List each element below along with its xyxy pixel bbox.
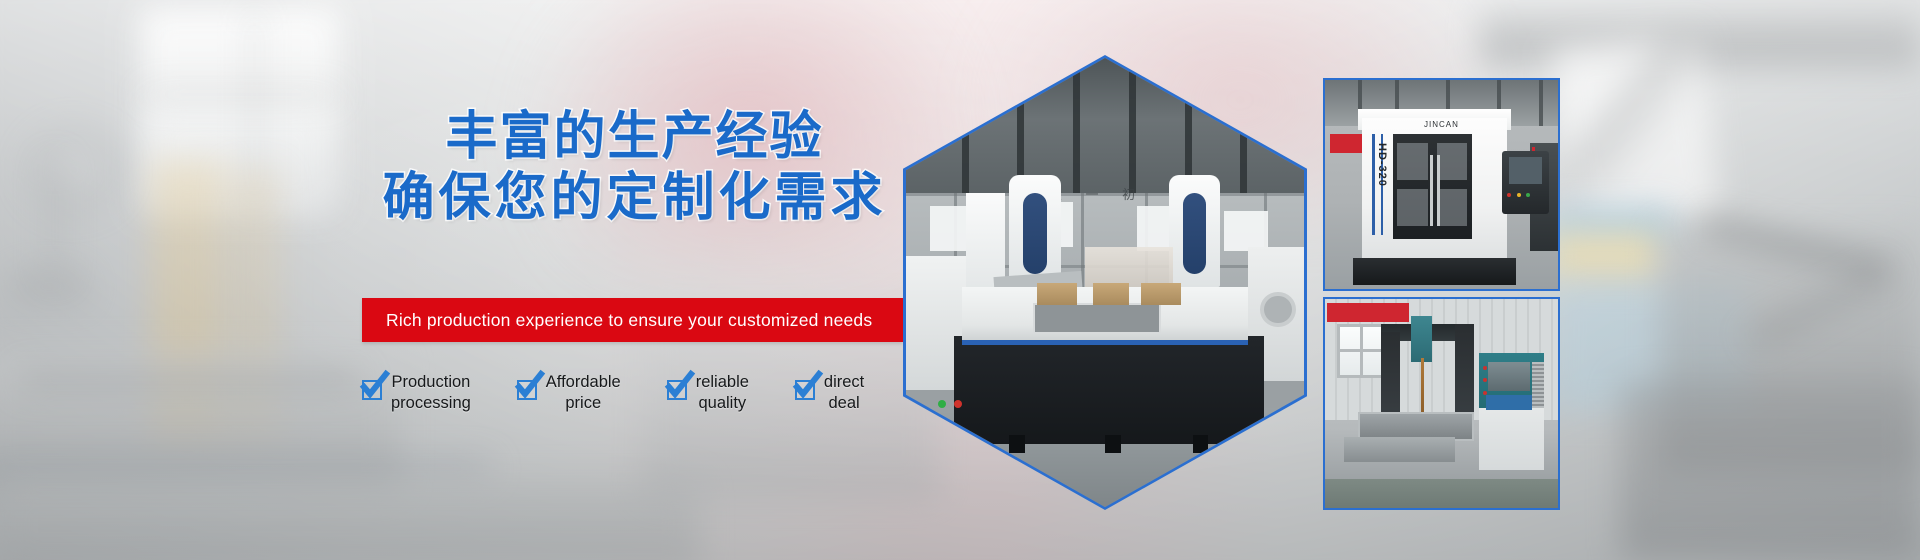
feature-item: reliable quality	[667, 372, 749, 413]
feature-item: direct deal	[795, 372, 864, 413]
tagline-band: Rich production experience to ensure you…	[362, 298, 903, 342]
feature-list: Production processing Affordable price r…	[362, 372, 864, 413]
headline-line-1: 丰富的生产经验	[445, 109, 823, 166]
feature-label: reliable quality	[696, 372, 749, 413]
machine-model-label: HD-320	[1365, 143, 1388, 206]
machine-brand-mark: JINCAN	[1418, 120, 1465, 129]
checkbox-checked-icon	[795, 380, 815, 400]
hero-banner: 丰富的生产经验 确保您的定制化需求 Rich production experi…	[0, 0, 1920, 560]
edm-machine-photo	[1323, 297, 1560, 510]
feature-item: Affordable price	[517, 372, 621, 413]
headline-line-2: 确保您的定制化需求	[362, 169, 907, 230]
checkbox-checked-icon	[667, 380, 687, 400]
hexagon-machine-photo: 定 一 初	[906, 58, 1304, 507]
checkbox-checked-icon	[362, 380, 382, 400]
banner-headline: 丰富的生产经验 确保您的定制化需求	[362, 108, 907, 230]
hexagon-photo-frame: 定 一 初	[903, 55, 1307, 510]
feature-label: Production processing	[391, 372, 471, 413]
feature-label: direct deal	[824, 372, 864, 413]
feature-item: Production processing	[362, 372, 471, 413]
machining-center-photo: JINCAN HD-320	[1323, 78, 1560, 291]
tagline-text: Rich production experience to ensure you…	[362, 310, 872, 331]
checkbox-checked-icon	[517, 380, 537, 400]
feature-label: Affordable price	[546, 372, 621, 413]
